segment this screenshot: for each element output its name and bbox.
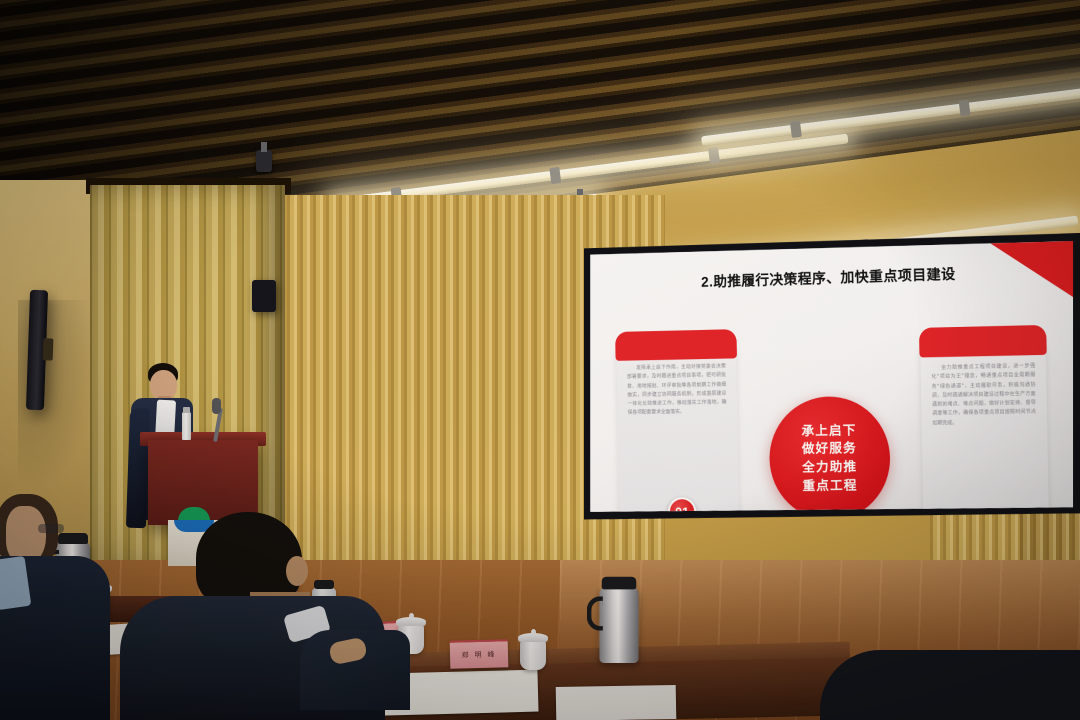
audience-member-center-ear bbox=[286, 556, 308, 586]
water-bottle-icon bbox=[182, 412, 191, 440]
microphone-icon bbox=[212, 398, 221, 414]
slide-cards-container: 发挥承上启下作用，主动对接党委会决策部署要求，及时跟进重点项目事项，把可研批复、… bbox=[614, 313, 1051, 509]
conference-room-scene: 2.助推履行决策程序、加快重点项目建设 发挥承上启下作用，主动对接党委会决策部署… bbox=[0, 0, 1080, 720]
screen-display-area[interactable]: 2.助推履行决策程序、加快重点项目建设 发挥承上启下作用，主动对接党委会决策部署… bbox=[590, 241, 1073, 517]
slide-canvas: 2.助推履行决策程序、加快重点项目建设 发挥承上启下作用，主动对接党委会决策部署… bbox=[590, 241, 1073, 517]
slide-center-circle: 承上启下 做好服务 全力助推 重点工程 bbox=[768, 395, 891, 516]
presentation-screen[interactable]: 2.助推履行决策程序、加快重点项目建设 发挥承上启下作用，主动对接党委会决策部署… bbox=[584, 233, 1080, 525]
card-body-text: 全力助推重点工程项目建设，进一步强化"项目为王"理念，畅通重点项目全周期服务"绿… bbox=[931, 362, 1036, 428]
card-cap bbox=[615, 329, 737, 361]
document-paper bbox=[556, 685, 677, 720]
slide-title: 2.助推履行决策程序、加快重点项目建设 bbox=[590, 259, 1073, 295]
eyeglasses-icon bbox=[38, 524, 64, 533]
slide-card-02: 全力助推重点工程项目建设，进一步强化"项目为王"理念，畅通重点项目全周期服务"绿… bbox=[920, 342, 1049, 517]
card-body-text: 发挥承上启下作用，主动对接党委会决策部署要求，及时跟进重点项目事项，把可研批复、… bbox=[627, 362, 727, 418]
card-badge-02: 02 bbox=[971, 516, 1000, 517]
card-cap bbox=[919, 325, 1047, 358]
circle-line-1: 承上启下 bbox=[801, 421, 856, 440]
circle-line-4: 重点工程 bbox=[802, 476, 857, 495]
thermos-flask-icon bbox=[599, 587, 638, 663]
circle-line-2: 做好服务 bbox=[801, 440, 856, 459]
slide-card-01: 发挥承上启下作用，主动对接党委会决策部署要求，及时跟进重点项目事项，把可研批复、… bbox=[616, 343, 739, 517]
teacup-icon bbox=[520, 640, 546, 670]
circle-line-3: 全力助推 bbox=[802, 458, 857, 477]
wall-speaker-icon bbox=[252, 280, 276, 312]
name-card: 郑 明 峰 bbox=[450, 639, 509, 669]
audience-member-right-body bbox=[820, 650, 1080, 720]
presenter-arm bbox=[126, 408, 150, 529]
ceiling-speaker-icon bbox=[256, 150, 272, 172]
